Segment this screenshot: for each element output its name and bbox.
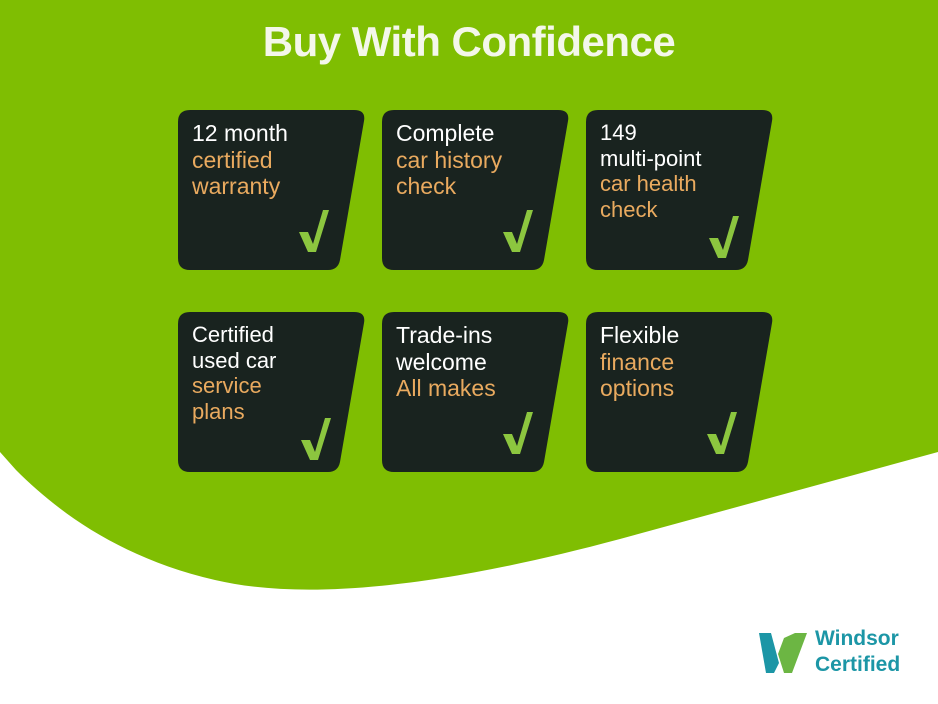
card-text-block: Flexible finance options: [600, 322, 752, 402]
card-line: warranty: [192, 173, 344, 200]
card-line: Complete: [396, 120, 548, 147]
logo-wordmark: Windsor Certified: [815, 626, 900, 677]
check-mark-icon: [500, 410, 534, 456]
card-text-block: 149 multi-point car health check: [600, 120, 752, 222]
card-line: 149: [600, 120, 752, 146]
benefit-card-certified-warranty[interactable]: 12 month certified warranty: [178, 110, 366, 270]
card-text-block: 12 month certified warranty: [192, 120, 344, 200]
logo-line-windsor: Windsor: [815, 626, 900, 652]
benefit-card-multi-point-health-check[interactable]: 149 multi-point car health check: [586, 110, 774, 270]
check-mark-icon: [706, 214, 740, 260]
card-line: 12 month: [192, 120, 344, 147]
card-line: All makes: [396, 375, 548, 402]
windsor-certified-logo[interactable]: Windsor Certified: [757, 626, 927, 682]
card-text-block: Complete car history check: [396, 120, 548, 200]
benefit-card-trade-ins-welcome[interactable]: Trade-ins welcome All makes: [382, 312, 570, 472]
poster-canvas: Buy With Confidence 12 month certified w…: [0, 0, 938, 704]
benefit-card-flexible-finance[interactable]: Flexible finance options: [586, 312, 774, 472]
card-line: certified: [192, 147, 344, 174]
benefit-card-grid: 12 month certified warranty Complete car…: [178, 110, 778, 514]
check-mark-icon: [296, 208, 330, 254]
benefit-card-row: 12 month certified warranty Complete car…: [178, 110, 778, 312]
card-line: car health: [600, 171, 752, 197]
logo-line-certified: Certified: [815, 652, 900, 678]
card-text-block: Trade-ins welcome All makes: [396, 322, 548, 402]
card-line: car history: [396, 147, 548, 174]
card-line: options: [600, 375, 752, 402]
card-line: service: [192, 373, 344, 399]
card-line: Flexible: [600, 322, 752, 349]
check-mark-icon: [500, 208, 534, 254]
card-line: used car: [192, 348, 344, 374]
check-mark-icon: [704, 410, 738, 456]
card-line: multi-point: [600, 146, 752, 172]
card-line: Certified: [192, 322, 344, 348]
page-title: Buy With Confidence: [0, 18, 938, 66]
card-line: check: [396, 173, 548, 200]
windsor-w-icon: [757, 630, 809, 676]
card-text-block: Certified used car service plans: [192, 322, 344, 424]
benefit-card-row: Certified used car service plans Trade-i…: [178, 312, 778, 514]
check-mark-icon: [298, 416, 332, 462]
benefit-card-service-plans[interactable]: Certified used car service plans: [178, 312, 366, 472]
card-line: Trade-ins: [396, 322, 548, 349]
card-line: finance: [600, 349, 752, 376]
card-line: welcome: [396, 349, 548, 376]
benefit-card-car-history-check[interactable]: Complete car history check: [382, 110, 570, 270]
